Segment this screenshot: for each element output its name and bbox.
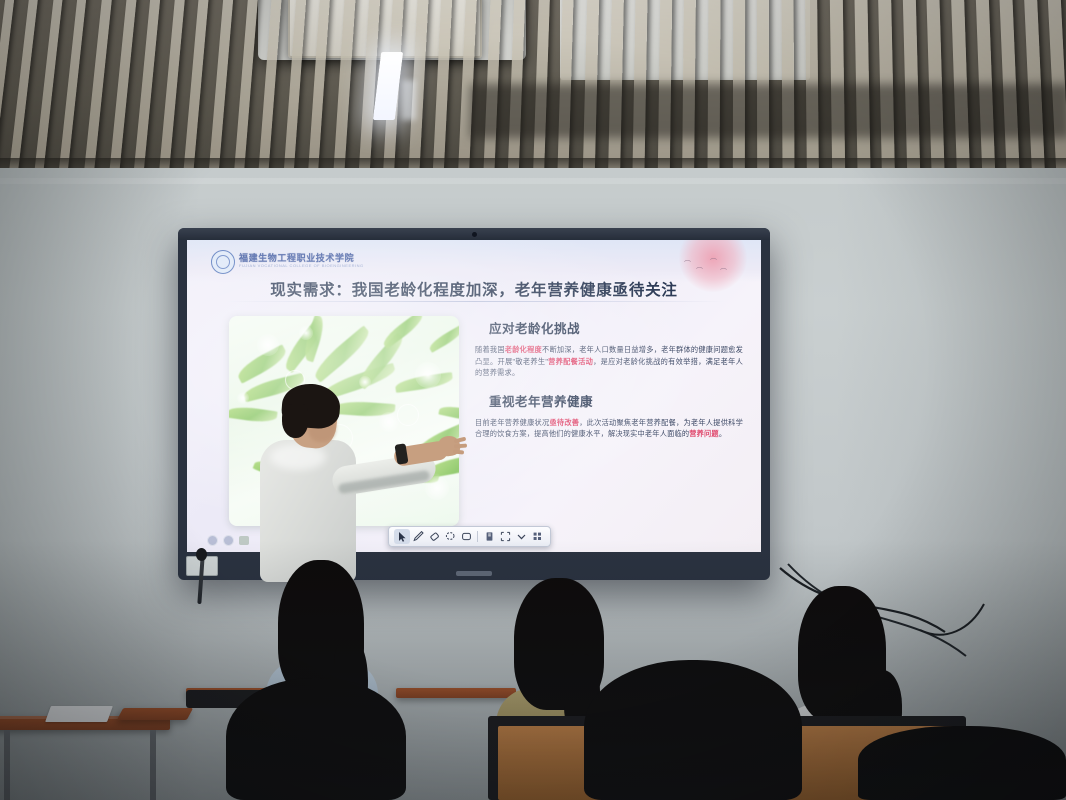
section-heading-2: 重视老年营养健康 bbox=[489, 391, 743, 410]
highlighted-text: 营养问题 bbox=[689, 429, 719, 438]
ceiling-slat bbox=[158, 0, 185, 172]
ceiling-light-glow bbox=[402, 80, 416, 120]
shape-tool-icon[interactable] bbox=[458, 529, 474, 544]
desk-leg bbox=[150, 730, 156, 800]
list-item bbox=[226, 678, 406, 800]
school-subtitle: FUJIAN VOCATIONAL COLLEGE OF BIOENGINEER… bbox=[239, 263, 364, 268]
ceiling-slat bbox=[33, 0, 63, 172]
prev-control-icon[interactable] bbox=[207, 535, 218, 546]
body-text: 。 bbox=[719, 429, 726, 438]
ceiling-slat bbox=[58, 0, 88, 172]
ceiling-slat bbox=[283, 0, 307, 172]
section-body-2: 目前老年营养健康状况亟待改善，此次活动聚焦老年营养配餐，为老年人提供科学合理的饮… bbox=[475, 417, 743, 440]
ceiling-slat bbox=[83, 0, 112, 172]
desk-leg bbox=[4, 730, 10, 800]
section-heading-1: 应对老龄化挑战 bbox=[489, 318, 743, 337]
bird-icon: ︵ bbox=[696, 261, 703, 271]
highlighted-text: 营养配餐活动 bbox=[548, 357, 593, 366]
bird-icon: ︵ bbox=[720, 262, 727, 272]
ceiling-slat bbox=[433, 0, 453, 172]
toolbar-divider bbox=[477, 531, 478, 542]
bird-icon: ︵ bbox=[684, 254, 691, 264]
page-tool-icon[interactable] bbox=[481, 529, 497, 544]
student-5-hair bbox=[584, 660, 802, 800]
slide-text-column: 应对老龄化挑战 随着我国老龄化程度不断加深，老年人口数量日益增多，老年群体的健康… bbox=[475, 318, 743, 452]
ceiling-slat bbox=[208, 0, 234, 172]
chevron-down-icon[interactable] bbox=[513, 529, 529, 544]
desk-side bbox=[117, 708, 193, 720]
ceiling-slat bbox=[233, 0, 258, 172]
bokeh-circle bbox=[257, 334, 279, 356]
paper-sheet bbox=[45, 706, 113, 722]
ceiling-shadow bbox=[470, 84, 1066, 138]
presenter-hair-side bbox=[282, 404, 308, 438]
student-4-hair bbox=[226, 678, 406, 800]
ceiling-slat bbox=[333, 0, 356, 172]
microphone-head-icon bbox=[196, 548, 207, 561]
bird-icon: ︵ bbox=[710, 252, 717, 262]
section-body-1: 随着我国老龄化程度不断加深，老年人口数量日益增多，老年群体的健康问题愈发凸显。开… bbox=[475, 344, 743, 379]
highlighted-text: 老龄化程度 bbox=[505, 345, 542, 354]
classroom-photo: 福建生物工程职业技术学院 FUJIAN VOCATIONAL COLLEGE O… bbox=[0, 0, 1066, 800]
grid-more-icon[interactable] bbox=[529, 529, 545, 544]
smart-board-brand-plate bbox=[456, 571, 492, 576]
bamboo-leaf bbox=[380, 316, 426, 349]
ceiling-slat bbox=[308, 0, 331, 172]
ceiling-slat bbox=[133, 0, 161, 172]
student-6-hair bbox=[858, 726, 1066, 800]
smart-board-bezel bbox=[178, 228, 770, 240]
presenter bbox=[246, 382, 456, 582]
body-text: 随着我国 bbox=[475, 345, 505, 354]
highlighted-text: 亟待改善 bbox=[549, 418, 579, 427]
slide-title: 现实需求：我国老龄化程度加深，老年营养健康亟待关注 bbox=[187, 278, 761, 300]
camera-icon bbox=[472, 232, 477, 237]
next-control-icon[interactable] bbox=[223, 535, 234, 546]
list-item bbox=[584, 660, 802, 800]
list-item bbox=[858, 726, 1066, 800]
body-text: 目前老年营养健康状况 bbox=[475, 418, 549, 427]
title-divider bbox=[225, 301, 725, 302]
ceiling bbox=[0, 0, 1066, 172]
bokeh-circle bbox=[299, 326, 313, 340]
slide-mini-controls[interactable] bbox=[207, 535, 249, 546]
ceiling-slat bbox=[8, 0, 39, 172]
ceiling-slat bbox=[108, 0, 136, 172]
screenshot-tool-icon[interactable] bbox=[497, 529, 513, 544]
bamboo-leaf bbox=[427, 325, 459, 353]
ceiling-slat bbox=[183, 0, 210, 172]
ceiling-slat bbox=[258, 0, 283, 172]
school-seal-icon bbox=[211, 250, 235, 274]
